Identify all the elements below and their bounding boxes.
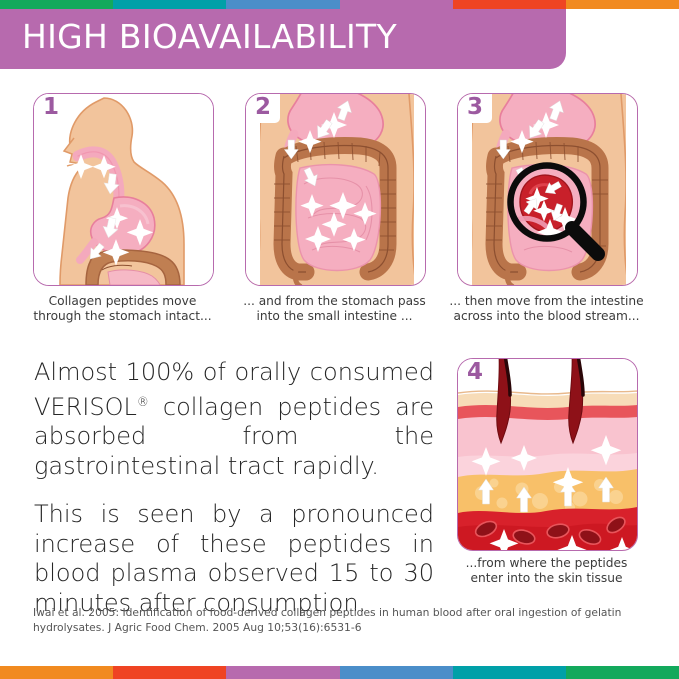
color-seg-orange [0,666,113,679]
top-color-bar [0,0,679,9]
panel-step-4: 4 [457,358,638,551]
panel-step-1: 1 [33,93,214,286]
color-seg-blue [226,0,339,9]
panel-number-3: 3 [458,94,492,123]
color-seg-red [453,0,566,9]
color-seg-teal [113,0,226,9]
color-seg-green [0,0,113,9]
body-paragraph-1: Almost 100% of orally consumed VERISOL® … [34,358,434,481]
header-banner: HIGH BIOAVAILABILITY [0,9,566,69]
caption-4-line-2: enter into the skin tissue [444,571,649,586]
caption-step-2: ... and from the stomach pass into the s… [232,294,437,324]
panel-number-1: 1 [34,94,68,123]
body-paragraph-2: This is seen by a pronounced increase of… [34,500,434,618]
color-seg-purple [226,666,339,679]
color-seg-blue [340,666,453,679]
color-seg-green [566,666,679,679]
panel-number-2: 2 [246,94,280,123]
caption-step-3: ... then move from the intestine across … [444,294,649,324]
bottom-color-bar [0,666,679,679]
panel-number-4: 4 [458,359,492,388]
color-seg-purple [340,0,453,9]
color-seg-orange [566,0,679,9]
page-title: HIGH BIOAVAILABILITY [22,17,397,56]
registered-mark: ® [137,395,149,409]
caption-3-line-1: ... then move from the intestine [444,294,649,309]
panel-step-3: 3 [457,93,638,286]
color-seg-red [113,666,226,679]
caption-1-line-2: through the stomach intact... [20,309,225,324]
caption-4-line-1: ...from where the peptides [444,556,649,571]
body-copy: Almost 100% of orally consumed VERISOL® … [34,358,434,618]
caption-step-4: ...from where the peptides enter into th… [444,556,649,586]
caption-2-line-2: into the small intestine ... [232,309,437,324]
caption-3-line-2: across into the blood stream... [444,309,649,324]
footnote-citation: Iwai et al. 2005: Identification of food… [33,606,653,635]
caption-step-1: Collagen peptides move through the stoma… [20,294,225,324]
panel-step-2: 2 [245,93,426,286]
caption-2-line-1: ... and from the stomach pass [232,294,437,309]
infographic-canvas: HIGH BIOAVAILABILITY [0,0,679,679]
color-seg-teal [453,666,566,679]
caption-1-line-1: Collagen peptides move [20,294,225,309]
